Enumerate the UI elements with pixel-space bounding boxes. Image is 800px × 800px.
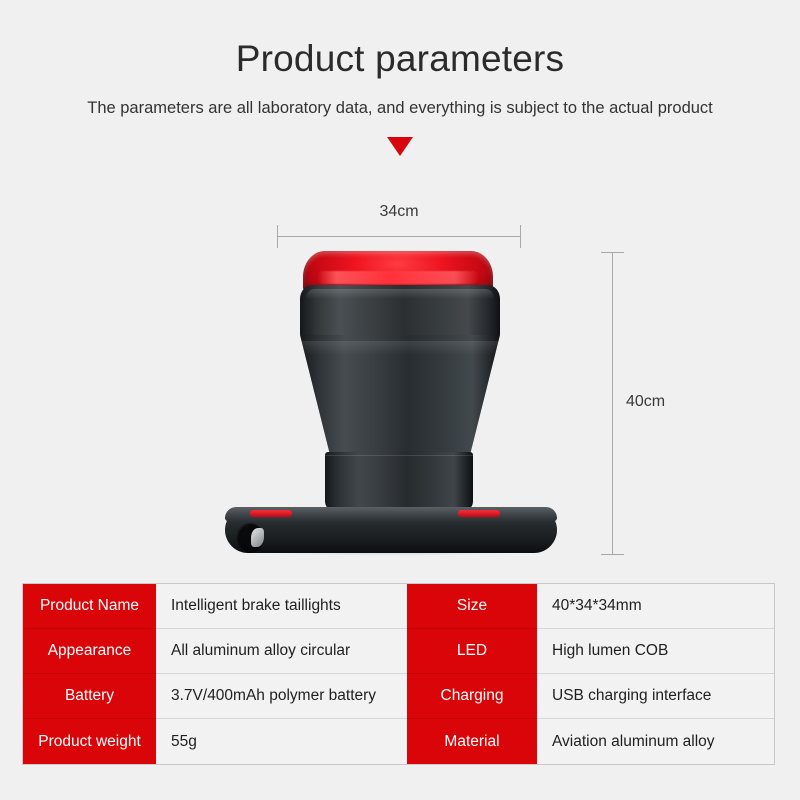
page-title: Product parameters (0, 38, 800, 80)
spec-value-product-weight: 55g (156, 719, 407, 764)
width-dimension-line (277, 236, 521, 237)
spec-label-product-name: Product Name (23, 584, 156, 629)
page-subtitle: The parameters are all laboratory data, … (0, 99, 800, 118)
width-dimension-label: 34cm (277, 203, 521, 221)
spec-label-battery: Battery (23, 674, 156, 719)
spec-table: Product Name Intelligent brake taillight… (22, 583, 775, 765)
spec-label-material: Material (407, 719, 537, 764)
spec-value-size: 40*34*34mm (537, 584, 774, 629)
lens-glow (317, 271, 479, 284)
body-collar-band (325, 452, 473, 510)
red-accent-strip-left (250, 510, 292, 517)
red-accent-strip-right (458, 510, 500, 517)
spec-value-material: Aviation aluminum alloy (537, 719, 774, 764)
spec-label-product-weight: Product weight (23, 719, 156, 764)
spec-value-product-name: Intelligent brake taillights (156, 584, 407, 629)
triangle-down-icon (387, 137, 413, 156)
spec-label-led: LED (407, 629, 537, 674)
spec-label-appearance: Appearance (23, 629, 156, 674)
spec-value-charging: USB charging interface (537, 674, 774, 719)
spec-label-size: Size (407, 584, 537, 629)
product-photo (210, 245, 580, 565)
product-parameters-page: Product parameters The parameters are al… (0, 0, 800, 800)
body-upper-highlight (306, 289, 494, 299)
spec-value-led: High lumen COB (537, 629, 774, 674)
collar-seam-line (325, 455, 473, 456)
spec-value-appearance: All aluminum alloy circular (156, 629, 407, 674)
spec-value-battery: 3.7V/400mAh polymer battery (156, 674, 407, 719)
height-dimension-label: 40cm (626, 393, 665, 411)
spec-label-charging: Charging (407, 674, 537, 719)
height-dimension-line (612, 252, 613, 555)
body-cone-highlight (300, 341, 500, 355)
